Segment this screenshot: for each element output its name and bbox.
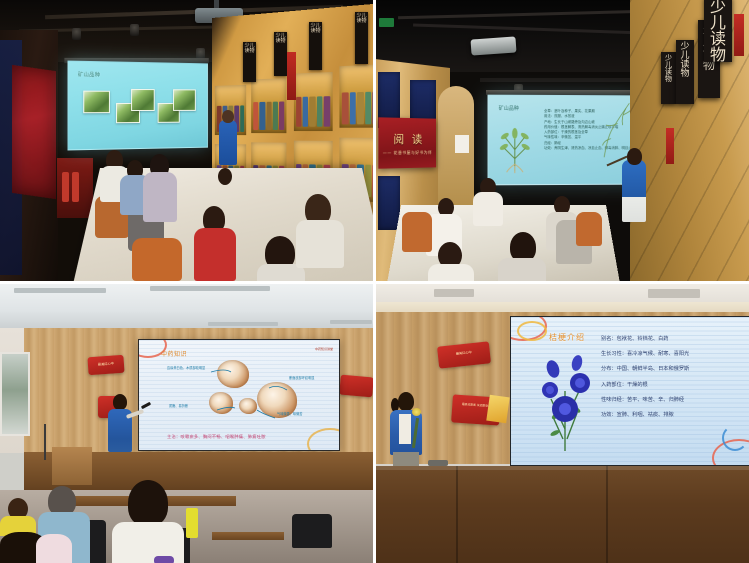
presenter-body	[219, 120, 237, 165]
spotlight	[72, 28, 81, 40]
chair	[402, 212, 432, 252]
slide-thumbnail	[173, 89, 196, 111]
gold-ribbon-decoration	[486, 395, 509, 424]
slide-line: 功效：宣肺、利咽、祛痰、排脓	[601, 413, 749, 418]
red-wall-banner	[12, 65, 56, 199]
led-screen[interactable]: 桔梗介绍	[510, 316, 749, 466]
ceiling-vent	[648, 289, 700, 298]
presenter	[390, 392, 422, 467]
exit-sign	[379, 18, 394, 27]
shelf-cell	[340, 64, 373, 128]
banner-main-text: 阅读	[385, 130, 429, 146]
reading-banner: 阅读 —— 花香书屋与好书为伴	[378, 117, 436, 168]
slide-title: 矿山品种	[78, 71, 100, 78]
badge-text: 最美红心中	[438, 347, 490, 357]
slide-line: 性味归经：苦平、味苦、辛、归肺经	[601, 398, 749, 403]
presenter-shirt	[399, 414, 411, 444]
photo-panel-bottom-left[interactable]: 最美红心中 中药知识 中药知识讲堂 边缘黄白色、木质部较明显 断面皮部环纹明显 …	[0, 284, 373, 563]
window	[0, 352, 30, 436]
presenter-body	[622, 160, 646, 222]
shelf-sign-children-books: 少儿读物	[704, 0, 732, 62]
slide-line: 分布：中国、朝鲜半岛、日本和俄罗斯	[601, 367, 749, 372]
sign-text: 少儿读物	[275, 33, 285, 44]
audience-desk	[212, 532, 284, 540]
audience-body	[143, 172, 177, 222]
slide-thumbnail	[83, 91, 110, 114]
podium	[52, 447, 92, 485]
wall-notice	[455, 135, 469, 153]
party-emblem-decoration	[339, 375, 373, 398]
presenter-head	[113, 394, 127, 410]
books	[342, 91, 373, 124]
sign-text: 少儿读物	[710, 0, 726, 64]
shelf-sign-children-books: 少儿读物	[676, 40, 694, 104]
sign-text: 少儿读物	[680, 42, 689, 79]
folder	[186, 508, 198, 538]
red-hanging-banner	[287, 52, 296, 100]
decor-cloud-icon	[517, 321, 547, 341]
desk-seam	[456, 466, 458, 563]
banner-sub-text: —— 花香书屋与好书为伴	[383, 149, 432, 155]
shelf-sign-children-books: 少儿读物	[661, 52, 676, 104]
ceiling-vent	[150, 286, 270, 291]
ceiling-vent	[14, 288, 106, 293]
sign-text: 少儿读物	[665, 54, 672, 83]
badge-text: 最美红心中	[88, 360, 124, 367]
presenter-head	[222, 110, 234, 123]
presenter-head	[398, 392, 414, 411]
plant-illustration	[497, 118, 533, 174]
audience-body	[473, 192, 503, 226]
projection-screen[interactable]: 矿山品种	[68, 61, 208, 151]
slide-thumbnail	[131, 89, 155, 111]
fire-extinguisher	[72, 172, 79, 202]
held-flower	[412, 408, 421, 416]
ceiling-vent	[330, 320, 372, 324]
photo-collage: 矿山品种 少儿读物 少儿读物 少儿读物 少儿读物	[0, 0, 749, 563]
audience-head	[128, 480, 168, 526]
shelf-sign-children-books: 少儿读物	[355, 12, 368, 64]
ceiling-vent	[434, 289, 474, 297]
photo-panel-bottom-right[interactable]: 最美红心中 最美志愿者 永远跟党走 桔梗介绍	[376, 284, 749, 563]
red-hanging-banner	[666, 128, 674, 164]
shelf-sign-children-books: 少儿读物	[274, 32, 287, 76]
shelf-cell	[251, 78, 286, 133]
photo-panel-top-right[interactable]: 阅读 —— 花香书屋与好书为伴 矿山品种	[376, 0, 749, 281]
photo-panel-top-left[interactable]: 矿山品种 少儿读物 少儿读物 少儿读物 少儿读物	[0, 0, 373, 281]
slide-line: 别名：包袱花、铃铛花、白药	[601, 337, 749, 342]
projector	[470, 36, 516, 55]
sign-text: 少儿读物	[356, 13, 366, 24]
desk-edge-highlight	[376, 466, 749, 470]
audience-body	[498, 258, 546, 281]
slide-line: 入药部位：干燥的根	[601, 383, 749, 388]
desk-seam	[606, 466, 608, 563]
audience-body	[194, 228, 236, 281]
chair	[132, 238, 182, 281]
desk-object	[428, 460, 448, 466]
audience-body	[428, 264, 474, 281]
books	[253, 101, 284, 129]
audience-body	[296, 220, 344, 268]
party-emblem-decoration: 最美红心中	[87, 355, 124, 375]
microphone-stand	[44, 424, 46, 460]
shelf-cell	[293, 71, 332, 130]
bag	[154, 556, 174, 563]
seat	[292, 514, 332, 548]
slide-title: 桔梗介绍	[549, 332, 585, 343]
chair	[576, 212, 602, 246]
fire-extinguisher	[62, 172, 69, 202]
books	[296, 96, 330, 127]
platycodon-flower-illustration	[531, 343, 601, 453]
slide-text-block: 别名：包袱花、铃铛花、白药 生长习性：喜冷凉气候、耐寒、喜阳光 分布：中国、朝鲜…	[601, 337, 749, 428]
shelf-sign-children-books: 少儿读物	[309, 22, 322, 70]
slide-line: 生长习性：喜冷凉气候、耐寒、喜阳光	[601, 352, 749, 357]
led-screen[interactable]: 中药知识 中药知识讲堂 边缘黄白色、木质部较明显 断面皮部环纹明显 质脆、易折断…	[138, 339, 340, 451]
shelf-sign-children-books: 少儿读物	[243, 42, 256, 82]
ceiling-vent	[208, 322, 278, 326]
presenter-head	[627, 148, 642, 165]
annotation-arrows	[139, 340, 339, 450]
slide-title: 矿山品种	[499, 105, 519, 112]
sign-text: 少儿读物	[244, 43, 254, 54]
audience-body	[36, 534, 72, 563]
podium-desk	[376, 466, 749, 563]
spotlight	[130, 24, 139, 36]
presenter	[108, 394, 132, 452]
audience-head	[218, 168, 232, 185]
red-hanging-banner	[734, 14, 744, 56]
wall-panel-blue	[378, 176, 400, 230]
decor-swirl-icon	[722, 425, 748, 451]
sign-text: 少儿读物	[310, 23, 320, 34]
projection-screen[interactable]: 矿山品种	[488, 95, 638, 186]
